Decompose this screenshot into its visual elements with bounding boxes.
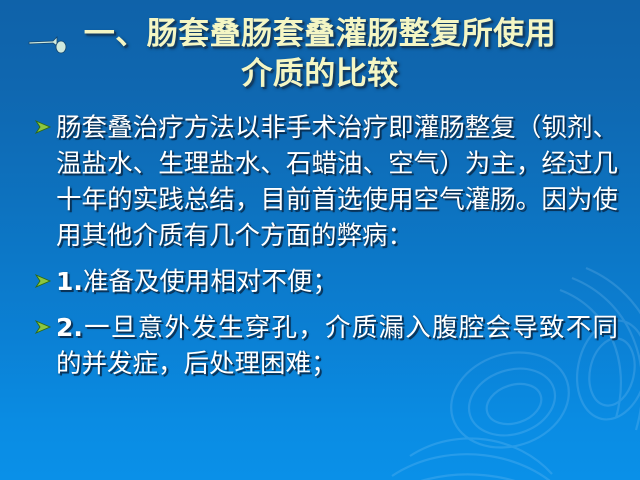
list-item-text: 肠套叠治疗方法以非手术治疗即灌肠整复（钡剂、温盐水、生理盐水、石蜡油、空气）为主…: [56, 110, 618, 254]
slide-body: 肠套叠治疗方法以非手术治疗即灌肠整复（钡剂、温盐水、生理盐水、石蜡油、空气）为主…: [0, 110, 640, 382]
arrowhead-bullet-icon: [34, 310, 56, 335]
slide-title-line-1: 一、肠套叠肠套叠灌肠整复所使用: [16, 14, 624, 54]
list-item-text: 2.一旦意外发生穿孔，介质漏入腹腔会导致不同的并发症，后处理困难；: [56, 310, 618, 382]
list-item-text: 1.准备及使用相对不便；: [56, 264, 618, 300]
slide-title-line-2: 介质的比较: [16, 54, 624, 94]
arrowhead-bullet-icon: [34, 264, 56, 289]
list-item: 肠套叠治疗方法以非手术治疗即灌肠整复（钡剂、温盐水、生理盐水、石蜡油、空气）为主…: [34, 110, 618, 254]
list-item-lead: 1.: [56, 267, 83, 296]
list-item: 2.一旦意外发生穿孔，介质漏入腹腔会导致不同的并发症，后处理困难；: [34, 310, 618, 382]
list-item-body: 一旦意外发生穿孔，介质漏入腹腔会导致不同的并发症，后处理困难；: [56, 313, 618, 379]
list-item-lead: 2.: [56, 313, 83, 342]
list-item-body: 肠套叠治疗方法以非手术治疗即灌肠整复（钡剂、温盐水、生理盐水、石蜡油、空气）为主…: [56, 113, 618, 251]
slide-title: 一、肠套叠肠套叠灌肠整复所使用 介质的比较: [0, 14, 640, 94]
list-item: 1.准备及使用相对不便；: [34, 264, 618, 300]
list-item-body: 准备及使用相对不便；: [83, 267, 338, 297]
presentation-slide: 一、肠套叠肠套叠灌肠整复所使用 介质的比较 肠套叠治疗方法以非手术治疗即灌肠整复…: [0, 0, 640, 480]
arrowhead-bullet-icon: [34, 110, 56, 135]
